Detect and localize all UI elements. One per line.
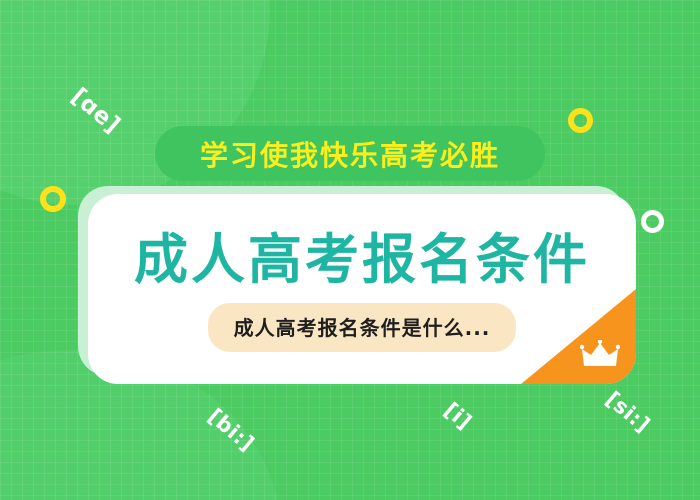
poster-canvas: [ɑe] [bi:] [i] [si:] 学习使我快乐高考必胜 成人高考报名条件… — [0, 0, 700, 500]
main-card: 成人高考报名条件 成人高考报名条件是什么... — [88, 194, 636, 384]
slogan-pill: 学习使我快乐高考必胜 — [155, 126, 545, 181]
ring-yellow-left-icon — [40, 186, 66, 212]
subtitle-pill: 成人高考报名条件是什么... — [208, 303, 517, 352]
crown-icon — [580, 340, 620, 370]
page-title: 成人高考报名条件 — [134, 233, 590, 287]
ring-white-right-icon — [641, 210, 664, 233]
phonetic-i-label: [i] — [440, 398, 477, 434]
phonetic-si-label: [si:] — [601, 387, 655, 437]
subtitle-text: 成人高考报名条件是什么... — [234, 316, 491, 340]
slogan-text: 学习使我快乐高考必胜 — [200, 134, 500, 174]
ring-yellow-top-icon — [568, 108, 593, 133]
